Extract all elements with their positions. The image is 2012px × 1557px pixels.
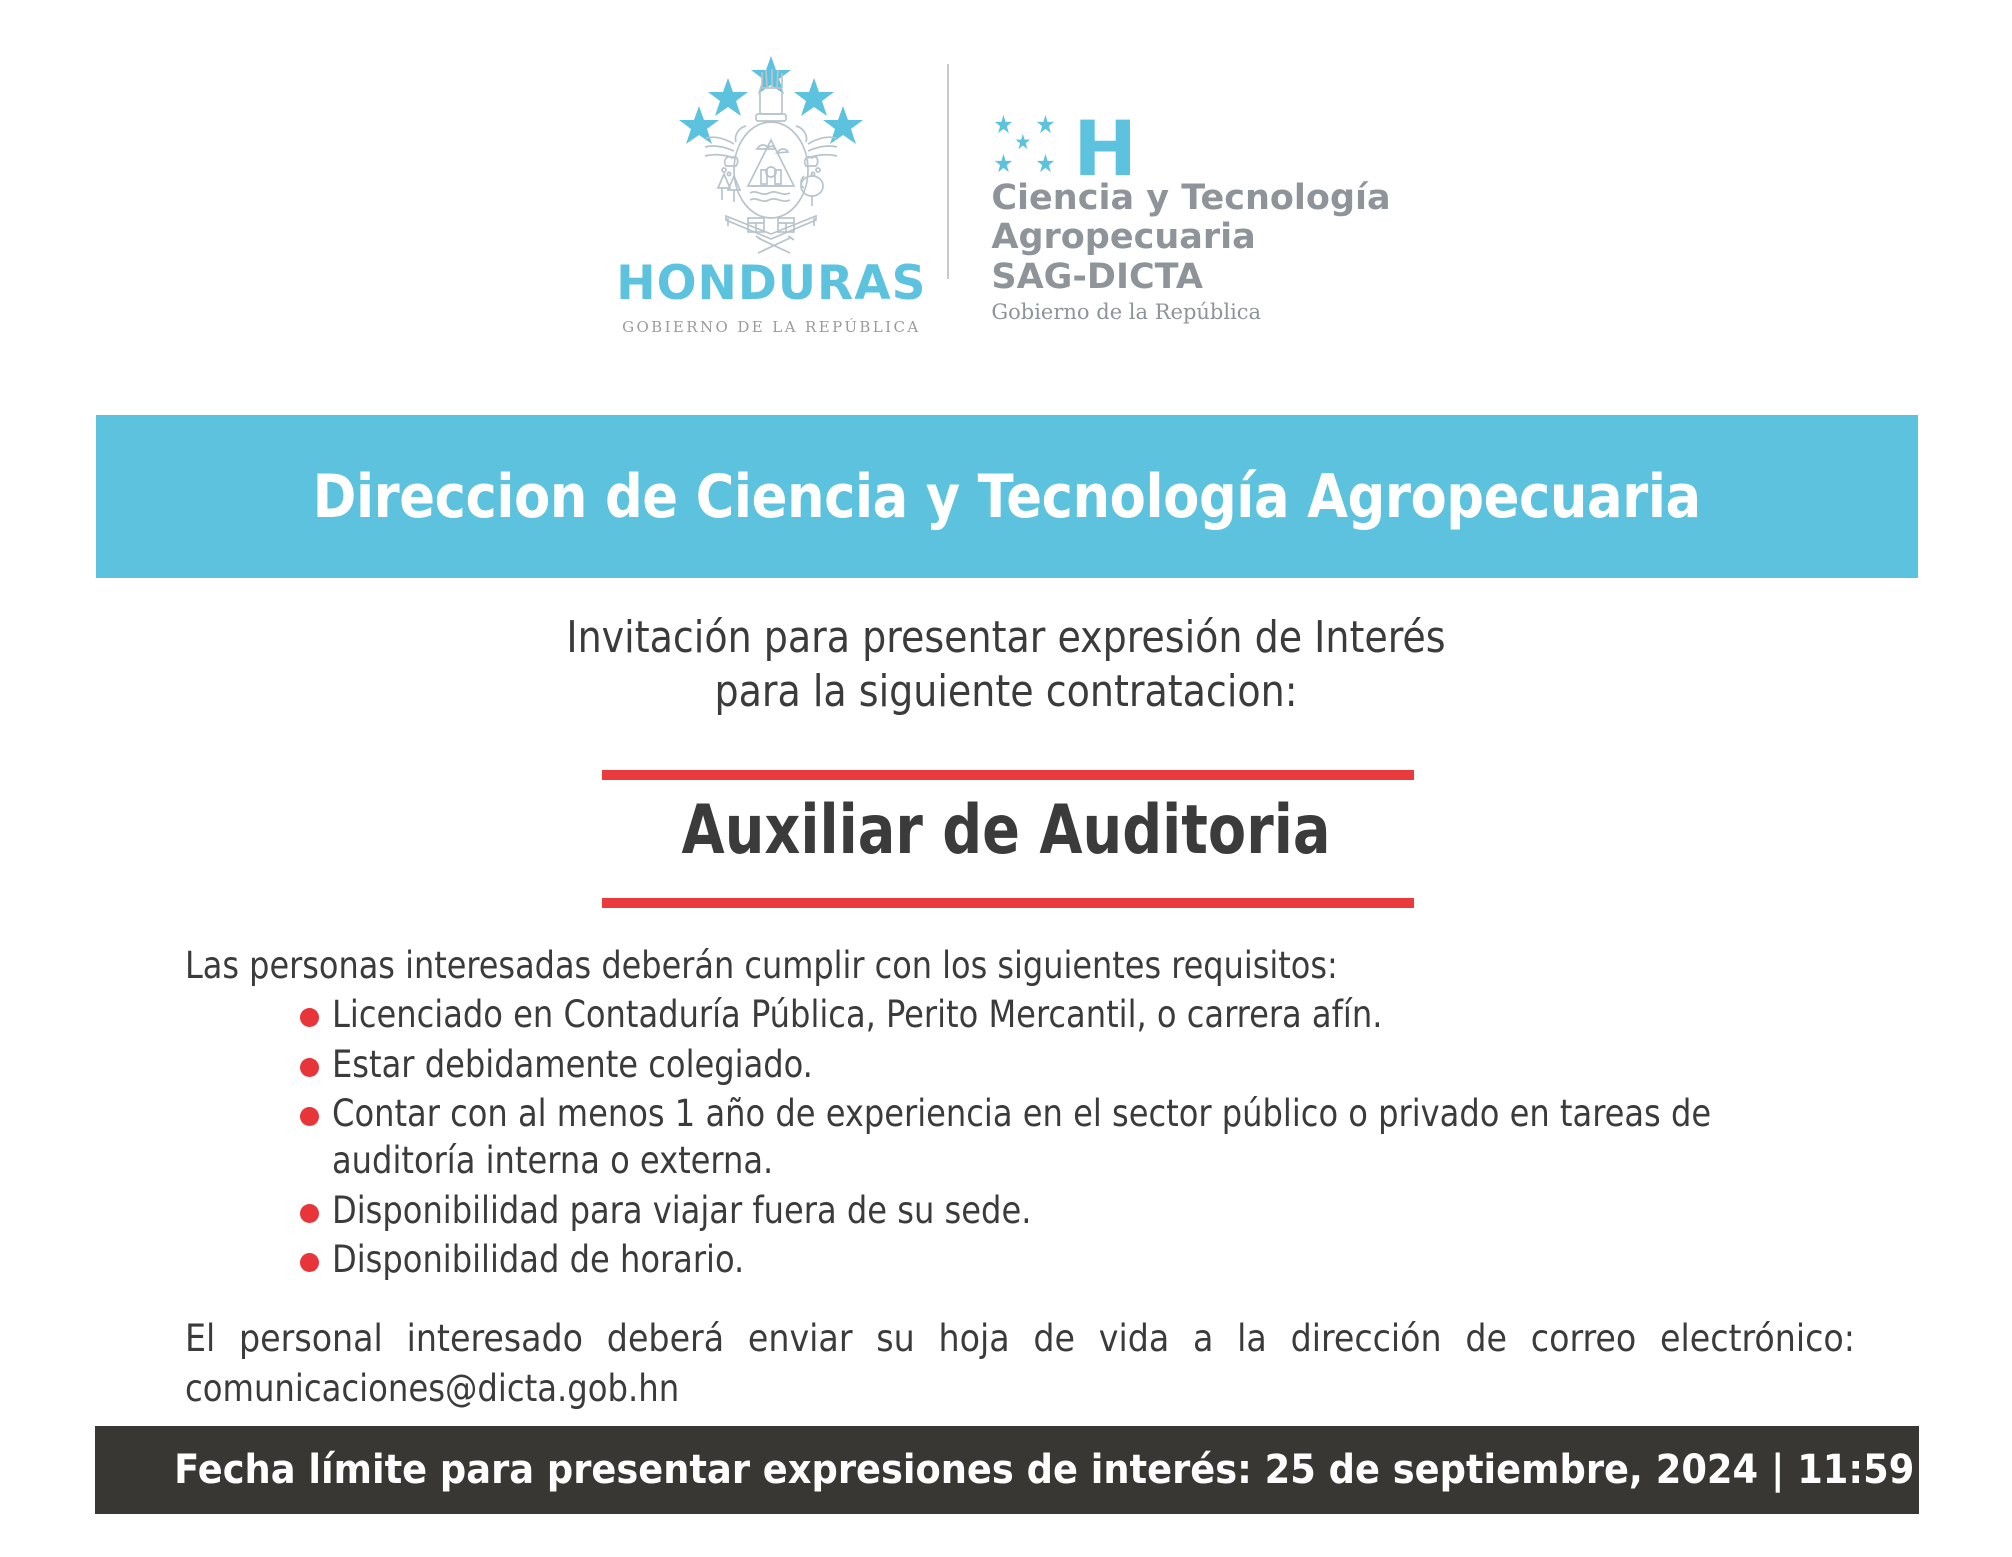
requirements-section: Las personas interesadas deberán cumplir… (185, 942, 1885, 1284)
contact-section: El personal interesado deberá enviar su … (185, 1315, 1855, 1413)
deadline-text: Fecha límite para presentar expresiones … (95, 1447, 1992, 1493)
five-stars-icon: ★ ★ ★ ★ ★ (991, 110, 1077, 178)
job-title-rule-top (602, 770, 1414, 780)
contact-instruction: El personal interesado deberá enviar su … (185, 1315, 1855, 1363)
dicta-logo: ★ ★ ★ ★ ★ H Ciencia y Tecnología Agropec… (949, 48, 1390, 324)
dicta-name-line-1: Ciencia y Tecnología (991, 180, 1390, 217)
dicta-government-line: Gobierno de la República (991, 300, 1390, 324)
bullet-icon (300, 1204, 319, 1223)
honduras-tagline: GOBIERNO DE LA REPÚBLICA (622, 318, 921, 336)
list-item: Licenciado en Contaduría Pública, Perito… (185, 991, 1885, 1038)
bullet-icon (300, 1058, 319, 1077)
list-item: Estar debidamente colegiado. (185, 1041, 1885, 1088)
dicta-name-line-2: Agropecuaria (991, 219, 1390, 256)
dicta-name-line-3: SAG-DICTA (991, 259, 1390, 296)
title-banner: Direccion de Ciencia y Tecnología Agrope… (96, 415, 1918, 578)
deadline-footer-bar: Fecha límite para presentar expresiones … (95, 1426, 1919, 1514)
requirement-text: Disponibilidad para viajar fuera de su s… (332, 1187, 1831, 1234)
subtitle-line-2: para la siguiente contratacion: (40, 665, 1972, 719)
requirement-text: Licenciado en Contaduría Pública, Perito… (332, 991, 1831, 1038)
honduras-logo: HONDURAS GOBIERNO DE LA REPÚBLICA (621, 48, 947, 336)
bullet-icon (300, 1008, 319, 1027)
honduras-wordmark: HONDURAS (616, 260, 926, 307)
bullet-icon (300, 1253, 319, 1272)
dicta-monogram: H (1073, 119, 1137, 178)
requirement-text: Estar debidamente colegiado. (332, 1041, 1831, 1088)
requirements-intro: Las personas interesadas deberán cumplir… (185, 942, 1817, 989)
subtitle-line-1: Invitación para presentar expresión de I… (40, 611, 1972, 665)
requirement-text: Disponibilidad de horario. (332, 1236, 1831, 1283)
list-item: Disponibilidad de horario. (185, 1236, 1885, 1283)
banner-title-text: Direccion de Ciencia y Tecnología Agrope… (313, 462, 1701, 532)
job-title: Auxiliar de Auditoria (181, 797, 1831, 865)
invitation-subtitle: Invitación para presentar expresión de I… (40, 611, 1972, 718)
requirements-list: Licenciado en Contaduría Pública, Perito… (185, 991, 1885, 1283)
list-item: Disponibilidad para viajar fuera de su s… (185, 1187, 1885, 1234)
honduras-coat-of-arms-icon (666, 48, 876, 258)
bullet-icon (300, 1107, 319, 1126)
job-title-rule-bottom (602, 898, 1414, 908)
list-item: Contar con al menos 1 año de experiencia… (185, 1090, 1885, 1185)
contact-email[interactable]: comunicaciones@dicta.gob.hn (185, 1365, 1805, 1413)
requirement-text: Contar con al menos 1 año de experiencia… (332, 1090, 1831, 1185)
header-logo-row: HONDURAS GOBIERNO DE LA REPÚBLICA ★ ★ ★ … (0, 48, 2012, 348)
